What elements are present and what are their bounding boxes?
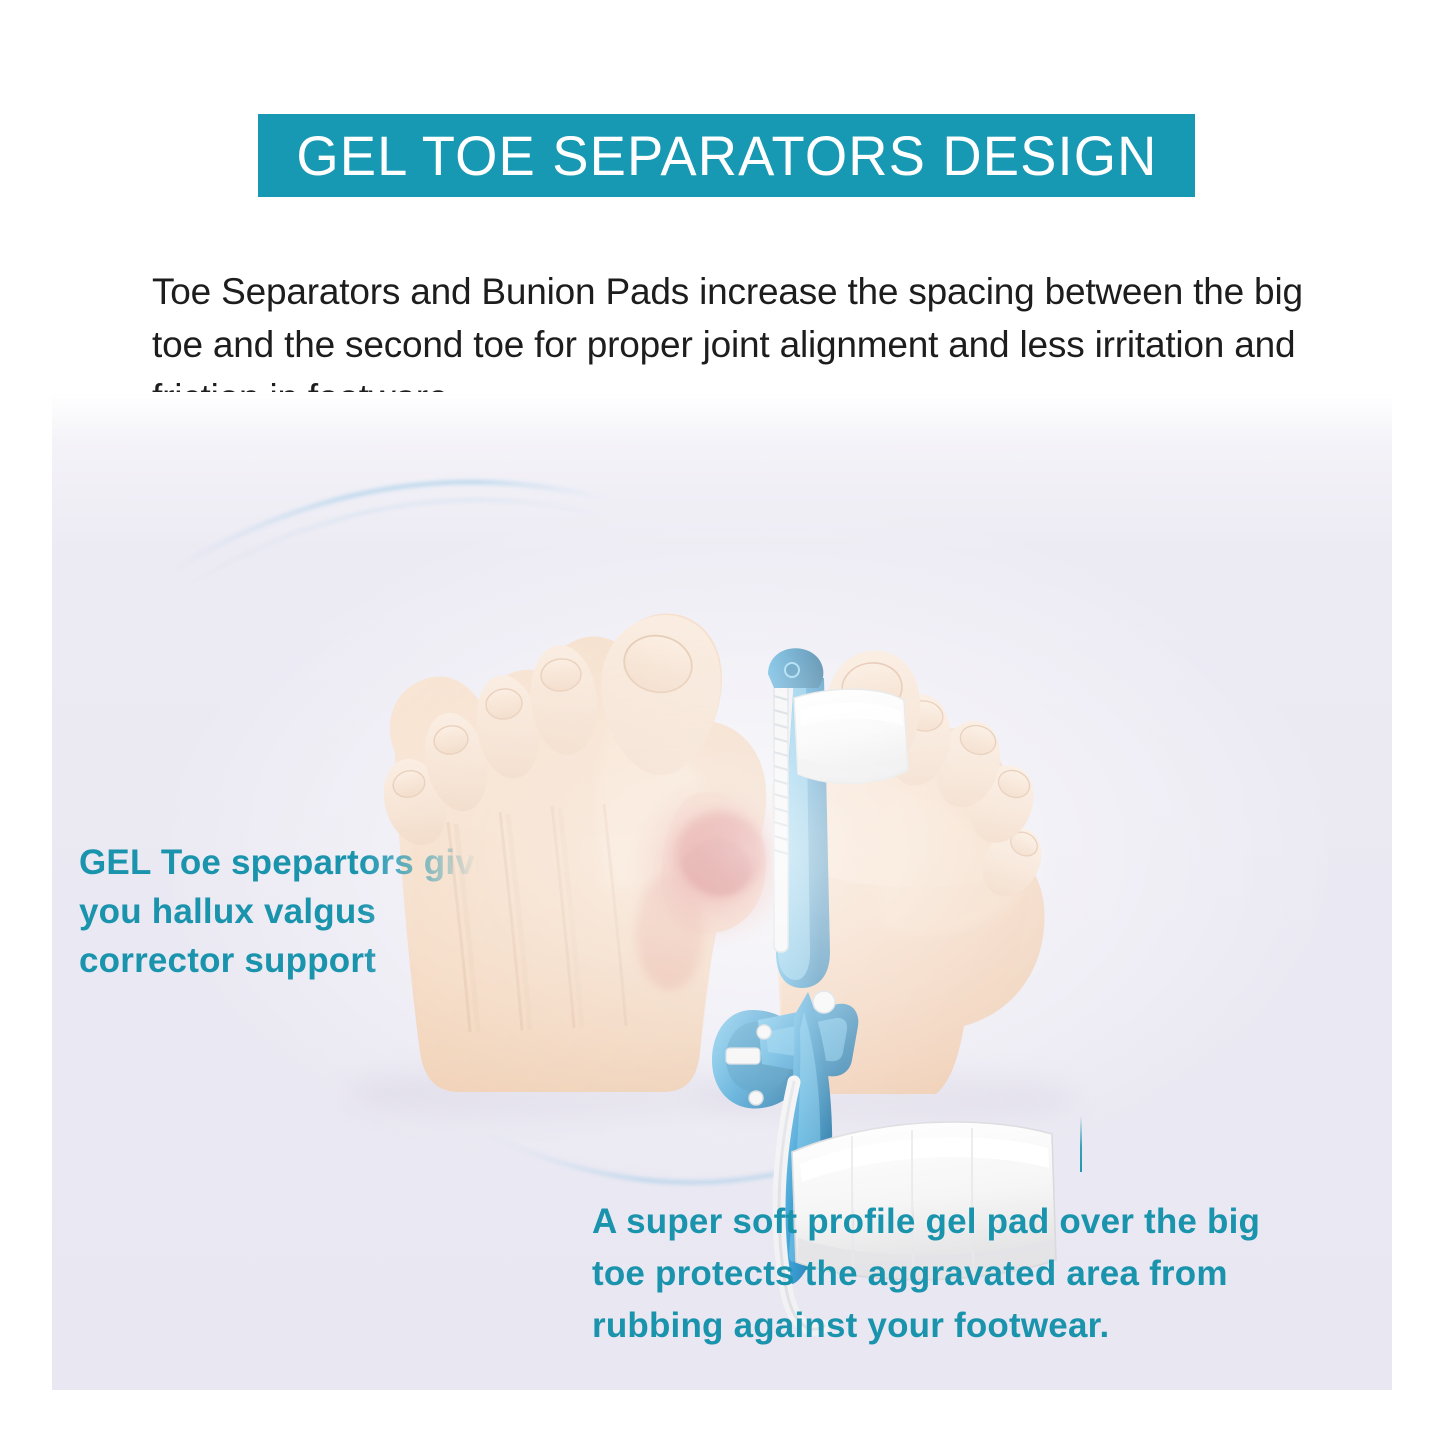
caption-connector-line [1080,1116,1082,1172]
splint-toe-strap [794,689,908,783]
page-title-banner: GEL TOE SEPARATORS DESIGN [258,114,1195,197]
caption-gel-toe-separators: GEL Toe spepartors give you hallux valgu… [79,838,499,985]
decorative-arc-top [170,482,612,590]
splint-rivet-mid [757,1025,771,1039]
splint-threaded-rod [774,684,788,952]
splint-rivet-top [813,991,835,1013]
splint-adjust-screw [726,1048,760,1064]
splint-rivet-low [749,1091,763,1105]
page-title: GEL TOE SEPARATORS DESIGN [296,128,1157,184]
caption-gel-pad-protection: A super soft profile gel pad over the bi… [592,1196,1292,1352]
